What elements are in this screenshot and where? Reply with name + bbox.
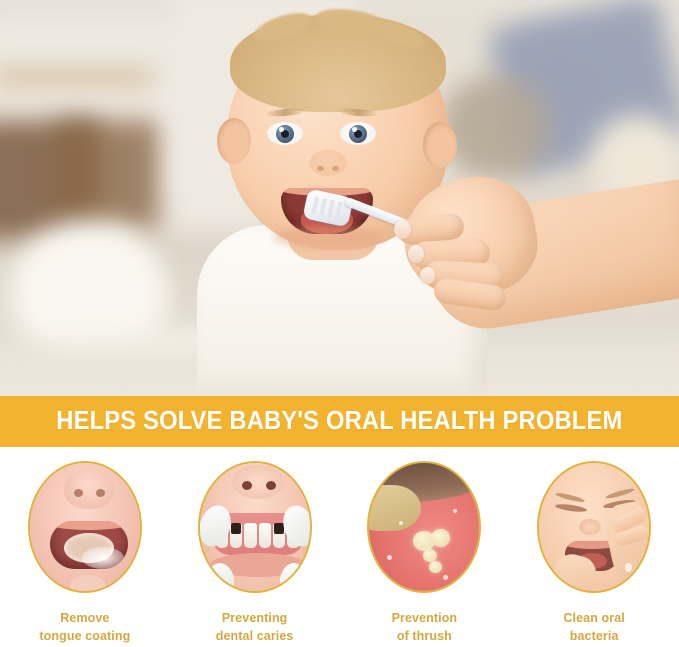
saliva-speck bbox=[443, 575, 448, 580]
benefit-label-line1: Clean oral bbox=[563, 610, 624, 628]
headline-banner: HELPS SOLVE BABY'S ORAL HEALTH PROBLEM bbox=[0, 396, 679, 447]
tongue-shape bbox=[64, 533, 114, 563]
benefit-label-line2: bacteria bbox=[563, 628, 624, 646]
baby-nose bbox=[309, 150, 347, 176]
infographic-page: HELPS SOLVE BABY'S ORAL HEALTH PROBLEM bbox=[0, 0, 679, 647]
baby-eye-left bbox=[267, 122, 303, 145]
saliva-speck bbox=[453, 509, 457, 513]
nostril-shape bbox=[74, 489, 83, 497]
saliva-speck bbox=[387, 555, 392, 560]
benefit-image-prevention-of-thrush bbox=[367, 461, 481, 593]
baby-ear-left bbox=[217, 118, 251, 164]
brush-bristle bbox=[335, 201, 343, 219]
tooth bbox=[230, 523, 242, 548]
background-shelf-wood bbox=[0, 70, 155, 84]
nose-shape bbox=[64, 469, 114, 509]
baby-iris-left bbox=[276, 125, 294, 143]
benefit-item-clean-oral-bacteria: Clean oral bacteria bbox=[509, 447, 679, 647]
oral-thrush-illustration bbox=[369, 463, 479, 591]
benefits-row: Remove tongue coating bbox=[0, 447, 679, 647]
crying-baby-illustration bbox=[539, 463, 649, 591]
hero-bottom-fade bbox=[0, 370, 679, 396]
benefit-label-prevention-of-thrush: Prevention of thrush bbox=[392, 610, 458, 646]
adult-fingernail bbox=[394, 220, 411, 239]
benefit-image-remove-tongue-coating bbox=[28, 461, 142, 593]
tooth bbox=[244, 523, 256, 548]
benefit-label-line1: Prevention bbox=[392, 610, 458, 628]
baby-nostril-left bbox=[317, 166, 324, 171]
thrush-lesion bbox=[429, 561, 442, 573]
eyebrow-shape bbox=[555, 491, 585, 503]
benefit-label-remove-tongue-coating: Remove tongue coating bbox=[39, 610, 130, 646]
brush-bristle bbox=[319, 198, 327, 216]
hero-photo bbox=[0, 0, 679, 396]
headline-text: HELPS SOLVE BABY'S ORAL HEALTH PROBLEM bbox=[56, 407, 622, 436]
nostril-shape bbox=[266, 481, 276, 490]
tooth bbox=[259, 523, 271, 548]
benefit-item-preventing-dental-caries: Preventing dental caries bbox=[170, 447, 340, 647]
benefit-label-line2: of thrush bbox=[392, 628, 458, 646]
adult-fingernail bbox=[420, 267, 435, 284]
benefit-image-clean-oral-bacteria bbox=[537, 461, 651, 593]
benefit-item-prevention-of-thrush: Prevention of thrush bbox=[340, 447, 510, 647]
baby-ear-right bbox=[423, 122, 457, 168]
nostril-shape bbox=[242, 481, 252, 490]
dental-caries-illustration bbox=[200, 463, 310, 591]
nostril-shape bbox=[96, 489, 105, 497]
benefit-label-line2: dental caries bbox=[216, 628, 294, 646]
nose-shape bbox=[232, 465, 284, 499]
coated-tongue-illustration bbox=[30, 463, 140, 591]
decay-spot bbox=[231, 523, 241, 534]
baby-nostril-right bbox=[332, 166, 339, 171]
nose-shape bbox=[579, 519, 601, 535]
benefit-label-line1: Remove bbox=[39, 610, 130, 628]
baby-iris-right bbox=[349, 125, 367, 143]
benefit-label-line2: tongue coating bbox=[39, 628, 130, 646]
baby-eye-gleam bbox=[279, 127, 284, 132]
background-cabinet-second bbox=[55, 120, 160, 230]
benefit-label-line1: Preventing bbox=[216, 610, 294, 628]
closed-eye-shape bbox=[555, 503, 588, 513]
adult-fingernail bbox=[408, 245, 424, 263]
brush-bristle bbox=[327, 199, 335, 217]
benefit-label-clean-oral-bacteria: Clean oral bacteria bbox=[563, 610, 624, 646]
eyebrow-shape bbox=[605, 487, 635, 500]
brush-bristle bbox=[311, 196, 319, 214]
white-coating bbox=[82, 547, 124, 569]
benefit-image-preventing-dental-caries bbox=[198, 461, 312, 593]
upper-lip-shape bbox=[50, 521, 128, 530]
thrush-lesion bbox=[431, 529, 450, 547]
open-mouth-shape bbox=[50, 521, 128, 569]
baby-lower-lip-shadow bbox=[273, 226, 383, 248]
chin-shape bbox=[70, 575, 106, 593]
baby-eye-gleam bbox=[352, 127, 357, 132]
baby-eye-right bbox=[340, 122, 376, 145]
benefit-item-remove-tongue-coating: Remove tongue coating bbox=[0, 447, 170, 647]
teeth-edge-shape bbox=[367, 485, 421, 531]
benefit-label-preventing-dental-caries: Preventing dental caries bbox=[216, 610, 294, 646]
